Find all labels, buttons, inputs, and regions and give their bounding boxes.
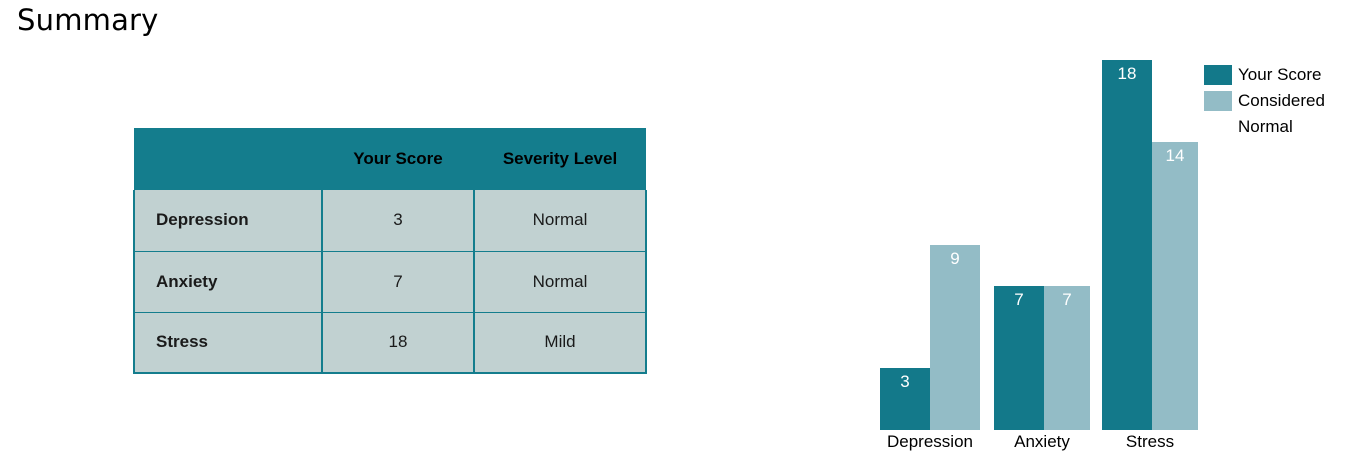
summary-table: Your Score Severity Level Depression 3 N… (133, 128, 647, 374)
x-axis-label-stress: Stress (1102, 432, 1198, 452)
column-header-severity-level: Severity Level (474, 128, 646, 190)
bar-value-stress-your-score: 18 (1102, 64, 1152, 84)
bar-value-anxiety-your-score: 7 (994, 290, 1044, 310)
page-title: Summary (17, 3, 159, 37)
bar-depression-considered-normal: 9 (930, 245, 980, 430)
bar-value-depression-your-score: 3 (880, 372, 930, 392)
row-label-anxiety: Anxiety (134, 251, 322, 312)
legend-swatch-your-score (1204, 65, 1232, 85)
bar-value-anxiety-considered-normal: 7 (1044, 290, 1090, 310)
chart-legend: Your Score Considered Normal (1204, 62, 1349, 140)
table-row: Depression 3 Normal (134, 190, 646, 251)
column-header-your-score: Your Score (322, 128, 474, 190)
x-axis-label-depression: Depression (880, 432, 980, 452)
row-score-anxiety: 7 (322, 251, 474, 312)
bar-depression-your-score: 3 (880, 368, 930, 430)
legend-swatch-considered-normal (1204, 91, 1232, 111)
legend-label-your-score: Your Score (1238, 62, 1349, 88)
bar-anxiety-your-score: 7 (994, 286, 1044, 430)
row-severity-depression: Normal (474, 190, 646, 251)
legend-label-considered-normal: Considered Normal (1238, 88, 1349, 140)
x-axis-label-anxiety: Anxiety (994, 432, 1090, 452)
table-head: Your Score Severity Level (134, 128, 646, 190)
row-severity-stress: Mild (474, 312, 646, 373)
legend-item-considered-normal: Considered Normal (1204, 88, 1349, 140)
table-header-row: Your Score Severity Level (134, 128, 646, 190)
bar-chart: 3 9 7 7 18 14 Depression Anxiety Stress (860, 0, 1220, 471)
table-row: Stress 18 Mild (134, 312, 646, 373)
column-header-category (134, 128, 322, 190)
bar-value-depression-considered-normal: 9 (930, 249, 980, 269)
row-severity-anxiety: Normal (474, 251, 646, 312)
row-label-stress: Stress (134, 312, 322, 373)
bar-anxiety-considered-normal: 7 (1044, 286, 1090, 430)
bar-stress-your-score: 18 (1102, 60, 1152, 430)
bar-stress-considered-normal: 14 (1152, 142, 1198, 430)
table-body: Depression 3 Normal Anxiety 7 Normal Str… (134, 190, 646, 373)
table-row: Anxiety 7 Normal (134, 251, 646, 312)
legend-item-your-score: Your Score (1204, 62, 1349, 88)
row-score-stress: 18 (322, 312, 474, 373)
bar-value-stress-considered-normal: 14 (1152, 146, 1198, 166)
row-score-depression: 3 (322, 190, 474, 251)
row-label-depression: Depression (134, 190, 322, 251)
